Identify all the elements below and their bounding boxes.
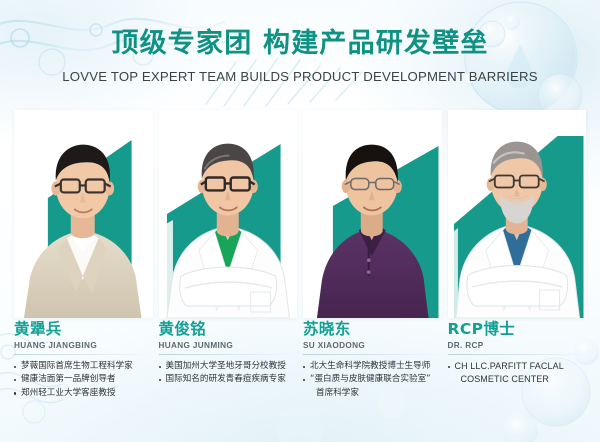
expert-info-block: RCP博士 DR. RCP CH LLC.PARFITT FACLAL COSM… — [448, 320, 592, 438]
page-title-cn: 顶级专家团 构建产品研发壁垒 — [0, 0, 600, 61]
expert-name-en: SU XIAODONG — [303, 339, 442, 351]
expert-photo-card[interactable] — [14, 110, 153, 318]
expert-info-row: 黄犟兵 HUANG JIANGBING 梦薇国际首席生物工程科学家 健康洁面第一… — [14, 320, 592, 438]
expert-photo-row — [14, 110, 586, 318]
expert-photo-card[interactable] — [303, 110, 442, 318]
expert-name-en: HUANG JIANGBING — [14, 339, 153, 351]
expert-team-poster: 顶级专家团 构建产品研发壁垒 LOVVE TOP EXPERT TEAM BUI… — [0, 0, 600, 442]
credential-item: 健康洁面第一品牌创导者 — [14, 373, 153, 386]
credential-item-continued: 首席科学家 — [303, 387, 442, 400]
credential-item: 北大生命科学院教授博士生导师 — [303, 360, 442, 373]
expert-info-block: 苏晓东 SU XIAODONG 北大生命科学院教授博士生导师 “蛋白质与皮肤健康… — [303, 320, 442, 438]
credential-item-continued: COSMETIC CENTER — [448, 373, 592, 386]
portrait-huang-junming — [159, 110, 298, 318]
portrait-huang-jiangbing — [14, 110, 153, 318]
credential-item: “蛋白质与皮肤健康联合实验室” — [303, 373, 442, 386]
expert-credentials: CH LLC.PARFITT FACLAL COSMETIC CENTER — [448, 355, 592, 387]
portrait-su-xiaodong — [303, 110, 442, 318]
portrait-dr-rcp — [448, 110, 587, 318]
expert-name-cn: RCP博士 — [448, 320, 592, 339]
expert-info-block: 黄犟兵 HUANG JIANGBING 梦薇国际首席生物工程科学家 健康洁面第一… — [14, 320, 153, 438]
expert-credentials: 美国加州大学圣地牙哥分校教授 国际知名的研发青春痘疾病专家 — [159, 355, 298, 387]
expert-name-en: HUANG JUNMING — [159, 339, 298, 351]
expert-photo-card[interactable] — [448, 110, 587, 318]
expert-credentials: 北大生命科学院教授博士生导师 “蛋白质与皮肤健康联合实验室” 首席科学家 — [303, 355, 442, 400]
expert-credentials: 梦薇国际首席生物工程科学家 健康洁面第一品牌创导者 郑州轻工业大学客座教授 — [14, 355, 153, 400]
credential-item: CH LLC.PARFITT FACLAL — [448, 360, 592, 373]
expert-name-cn: 黄犟兵 — [14, 320, 153, 339]
credential-item: 美国加州大学圣地牙哥分校教授 — [159, 360, 298, 373]
credential-item: 郑州轻工业大学客座教授 — [14, 387, 153, 400]
page-title-en: LOVVE TOP EXPERT TEAM BUILDS PRODUCT DEV… — [0, 61, 600, 85]
poster-header: 顶级专家团 构建产品研发壁垒 LOVVE TOP EXPERT TEAM BUI… — [0, 0, 600, 104]
credential-item: 国际知名的研发青春痘疾病专家 — [159, 373, 298, 386]
expert-name-en: DR. RCP — [448, 339, 592, 351]
expert-info-block: 黄俊铭 HUANG JUNMING 美国加州大学圣地牙哥分校教授 国际知名的研发… — [159, 320, 298, 438]
expert-name-cn: 苏晓东 — [303, 320, 442, 339]
expert-name-cn: 黄俊铭 — [159, 320, 298, 339]
credential-item: 梦薇国际首席生物工程科学家 — [14, 360, 153, 373]
expert-photo-card[interactable] — [159, 110, 298, 318]
